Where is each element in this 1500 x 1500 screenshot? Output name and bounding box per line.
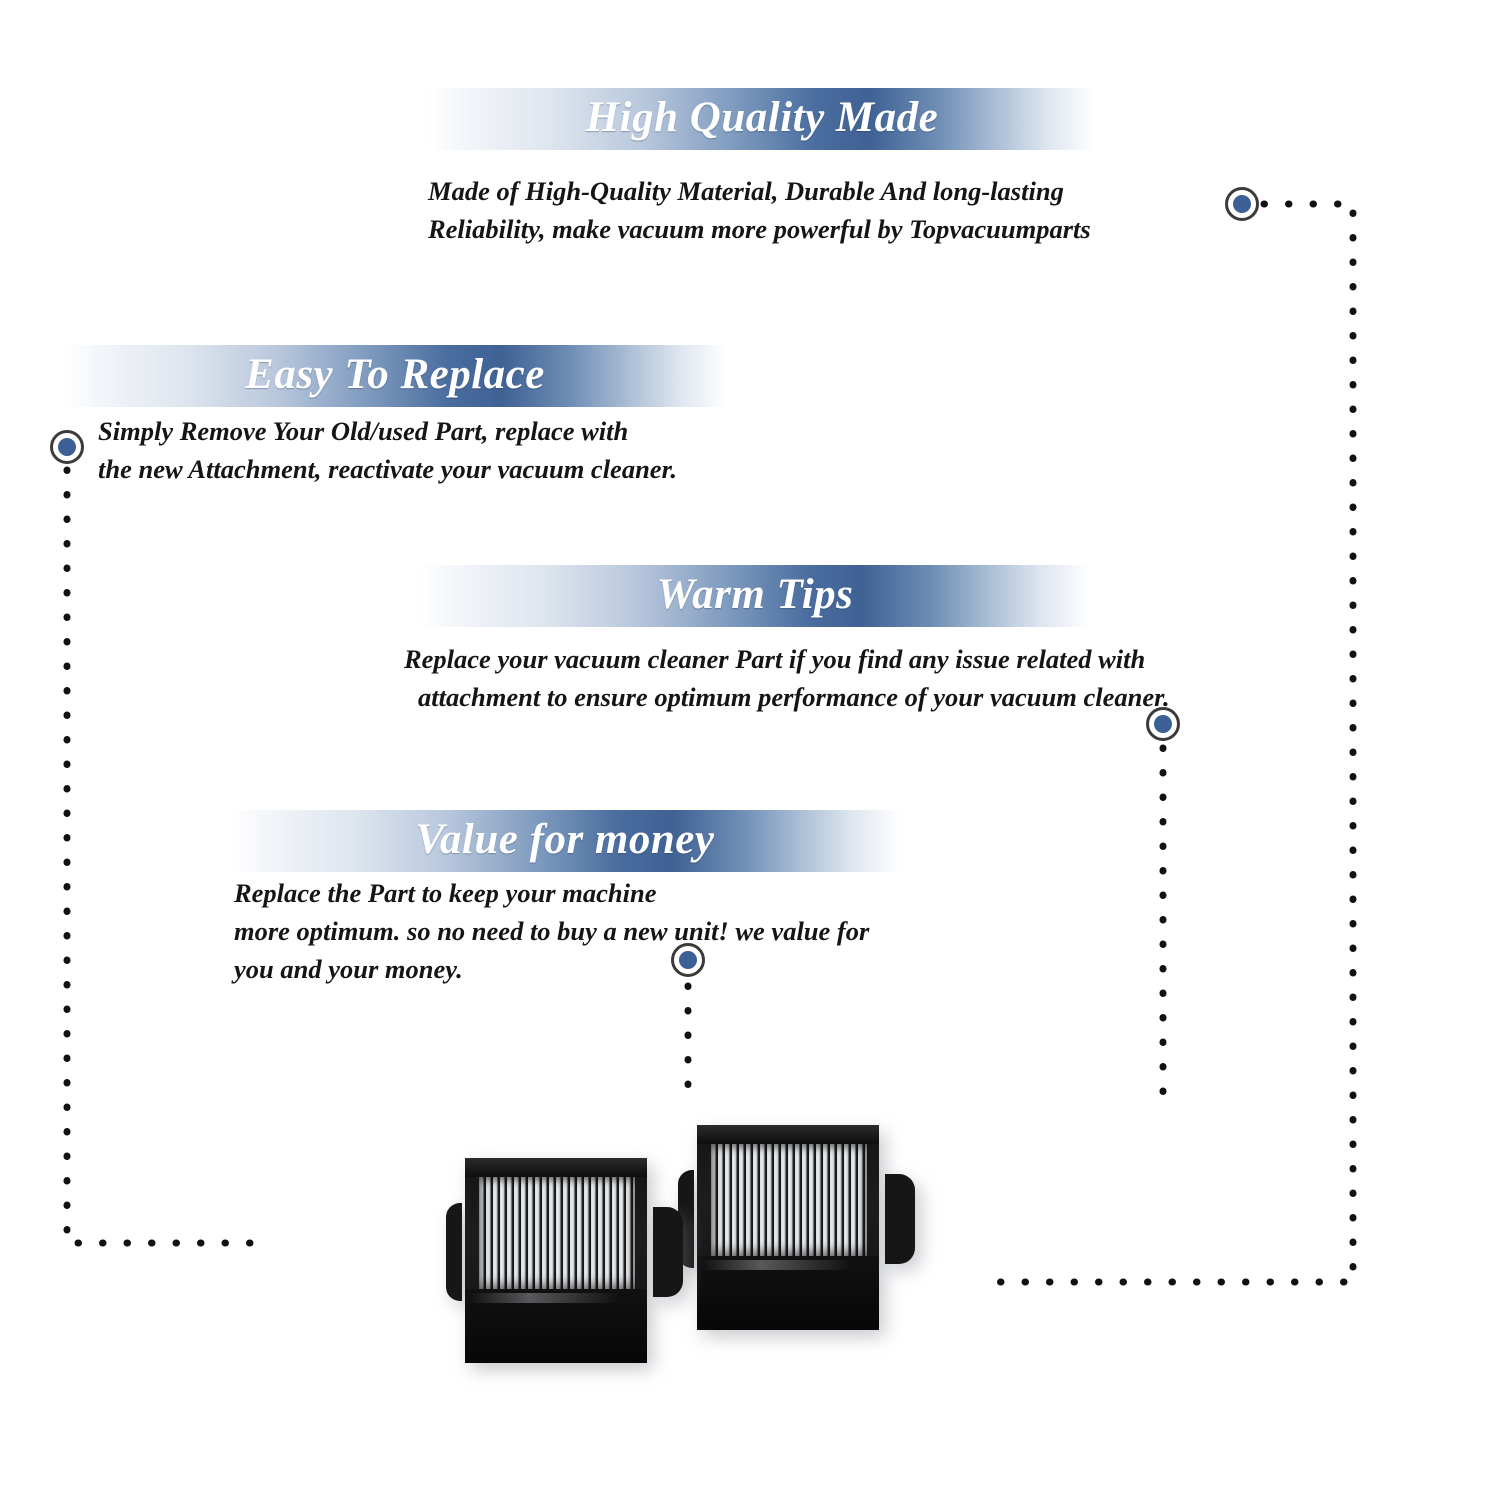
section-banner-high-quality-made: High Quality Made: [428, 88, 1096, 150]
filter-tab-right: [885, 1174, 915, 1264]
filter-tab-left: [446, 1203, 462, 1301]
marker-high-quality-made[interactable]: [1225, 187, 1259, 221]
filter-top-rail: [697, 1125, 879, 1144]
section-banner-value-for-money: Value for money: [230, 810, 900, 872]
marker-value-for-money[interactable]: [671, 943, 705, 977]
body-line: Replace the Part to keep your machine: [234, 874, 869, 912]
section-title-high-quality-made: High Quality Made: [586, 93, 939, 142]
marker-warm-tips[interactable]: [1146, 707, 1180, 741]
infographic-canvas: High Quality Made Made of High-Quality M…: [0, 0, 1500, 1500]
section-body-easy-to-replace: Simply Remove Your Old/used Part, replac…: [98, 412, 677, 488]
connector-high-quality-made: [1000, 204, 1353, 1282]
marker-easy-to-replace[interactable]: [50, 430, 84, 464]
body-line: Made of High-Quality Material, Durable A…: [428, 172, 1091, 210]
product-image-vacuum-filters: [415, 1110, 975, 1440]
filter-pleats: [479, 1177, 635, 1289]
section-banner-warm-tips: Warm Tips: [420, 565, 1090, 627]
section-banner-easy-to-replace: Easy To Replace: [62, 345, 728, 407]
section-body-value-for-money: Replace the Part to keep your machine mo…: [234, 874, 869, 988]
section-title-warm-tips: Warm Tips: [657, 570, 854, 619]
filter-highlight: [469, 1293, 619, 1303]
section-title-value-for-money: Value for money: [416, 815, 715, 864]
body-line: attachment to ensure optimum performance…: [404, 678, 1170, 716]
vacuum-filter-left: [455, 1158, 665, 1363]
section-body-high-quality-made: Made of High-Quality Material, Durable A…: [428, 172, 1091, 248]
body-line: Simply Remove Your Old/used Part, replac…: [98, 412, 677, 450]
body-line: Reliability, make vacuum more powerful b…: [428, 210, 1091, 248]
vacuum-filter-right: [687, 1125, 897, 1330]
section-title-easy-to-replace: Easy To Replace: [245, 350, 545, 399]
body-line: you and your money.: [234, 950, 869, 988]
filter-top-rail: [465, 1158, 647, 1177]
filter-pleats: [711, 1144, 867, 1256]
body-line: the new Attachment, reactivate your vacu…: [98, 450, 677, 488]
body-line: Replace your vacuum cleaner Part if you …: [404, 640, 1170, 678]
filter-tab-right: [653, 1207, 683, 1297]
filter-highlight: [701, 1260, 851, 1270]
section-body-warm-tips: Replace your vacuum cleaner Part if you …: [404, 640, 1170, 716]
body-line: more optimum. so no need to buy a new un…: [234, 912, 869, 950]
